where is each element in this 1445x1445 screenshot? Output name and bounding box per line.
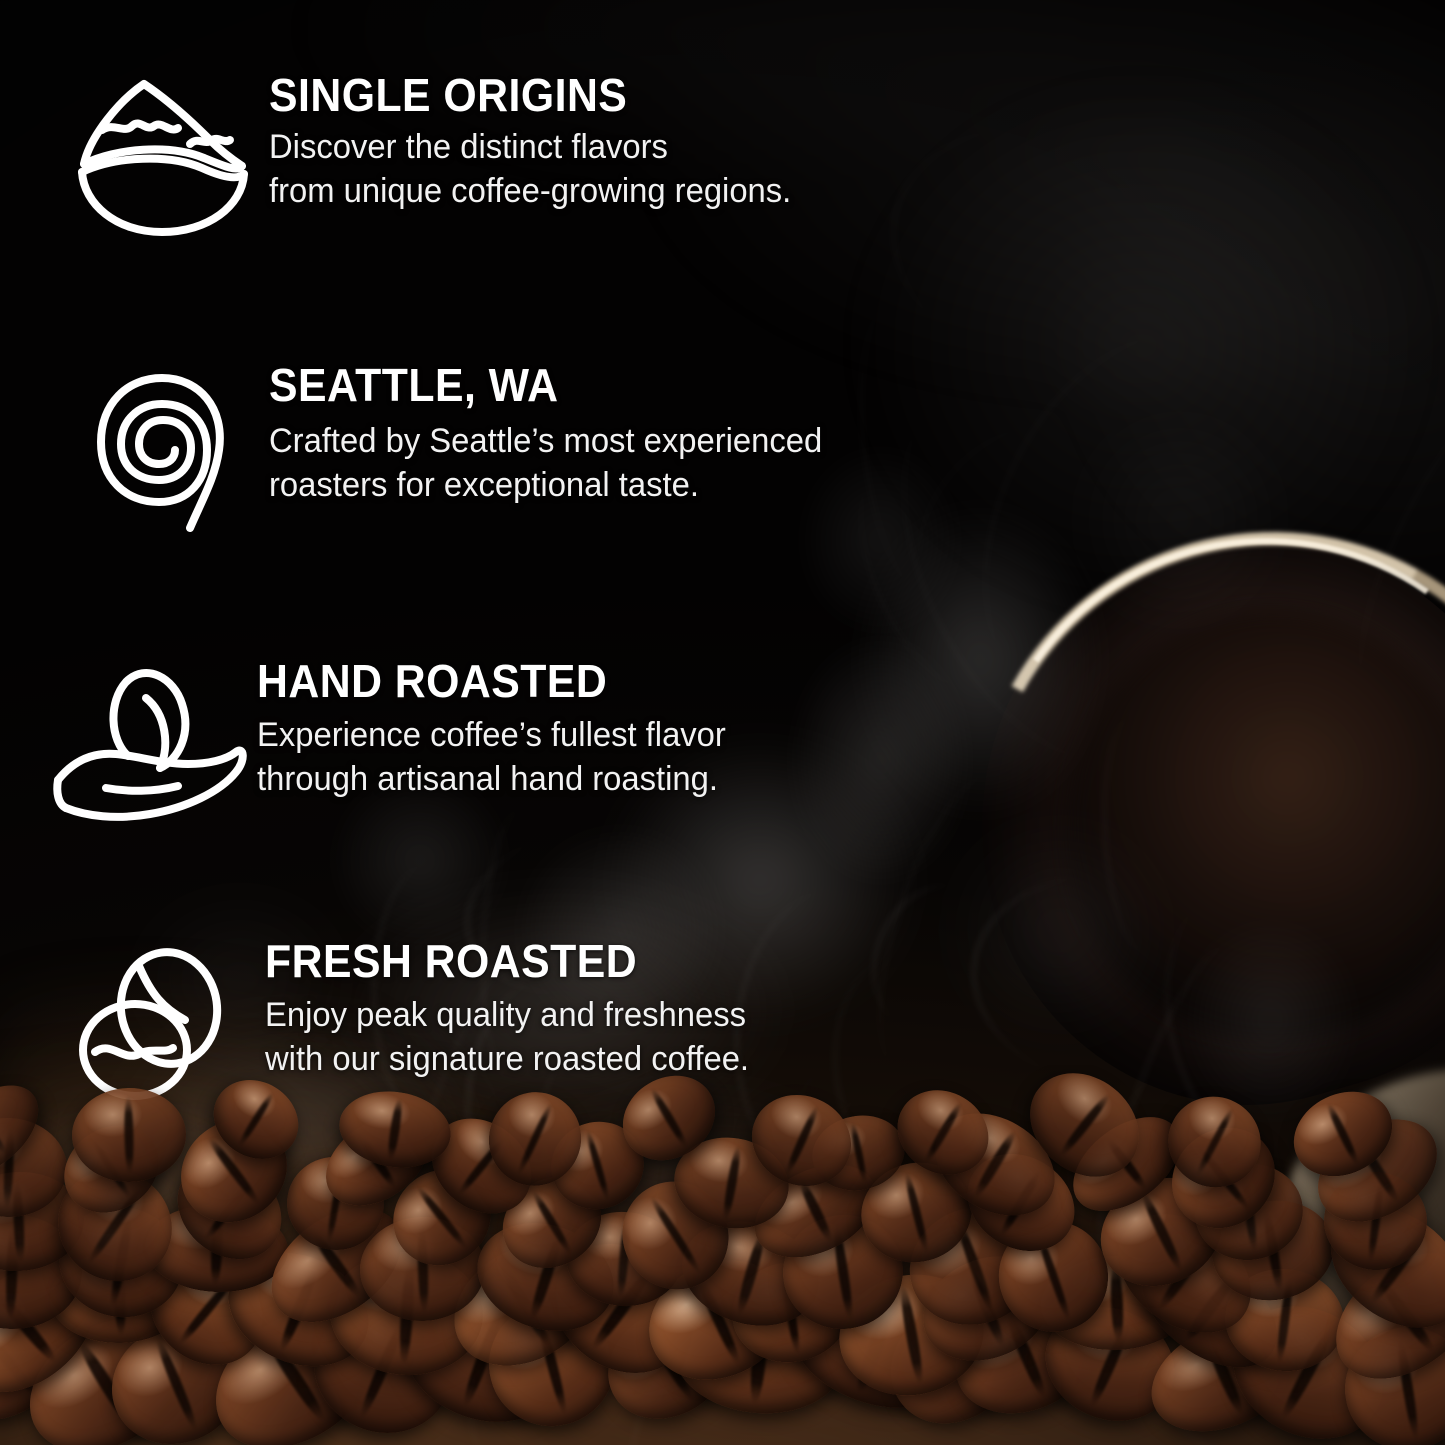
feature-text: HAND ROASTED Experience coffee’s fullest… [257, 658, 751, 802]
feature-item-seattle-wa: SEATTLE, WA Crafted by Seattle’s most ex… [54, 362, 851, 538]
fingerprint-icon [54, 362, 269, 538]
hand-holding-bean-icon [42, 658, 257, 824]
feature-item-single-origins: SINGLE ORIGINS Discover the distinct fla… [54, 72, 819, 238]
feature-text: FRESH ROASTED Enjoy peak quality and fre… [265, 938, 775, 1082]
feature-title: SEATTLE, WA [269, 362, 811, 408]
mountain-bean-icon [54, 72, 269, 238]
feature-description: Crafted by Seattle’s most experienced ro… [269, 420, 822, 508]
feature-text: SEATTLE, WA Crafted by Seattle’s most ex… [269, 362, 851, 508]
feature-description: Discover the distinct flavors from uniqu… [269, 126, 791, 214]
feature-title: SINGLE ORIGINS [269, 72, 780, 118]
feature-item-hand-roasted: HAND ROASTED Experience coffee’s fullest… [42, 658, 751, 824]
feature-text: SINGLE ORIGINS Discover the distinct fla… [269, 72, 819, 214]
feature-description: Experience coffee’s fullest flavor throu… [257, 714, 726, 802]
feature-description: Enjoy peak quality and freshness with ou… [265, 994, 749, 1082]
feature-title: HAND ROASTED [257, 658, 716, 704]
feature-title: FRESH ROASTED [265, 938, 739, 984]
product-feature-panel: SINGLE ORIGINS Discover the distinct fla… [0, 0, 1445, 1445]
two-coffee-beans-icon [50, 938, 265, 1106]
